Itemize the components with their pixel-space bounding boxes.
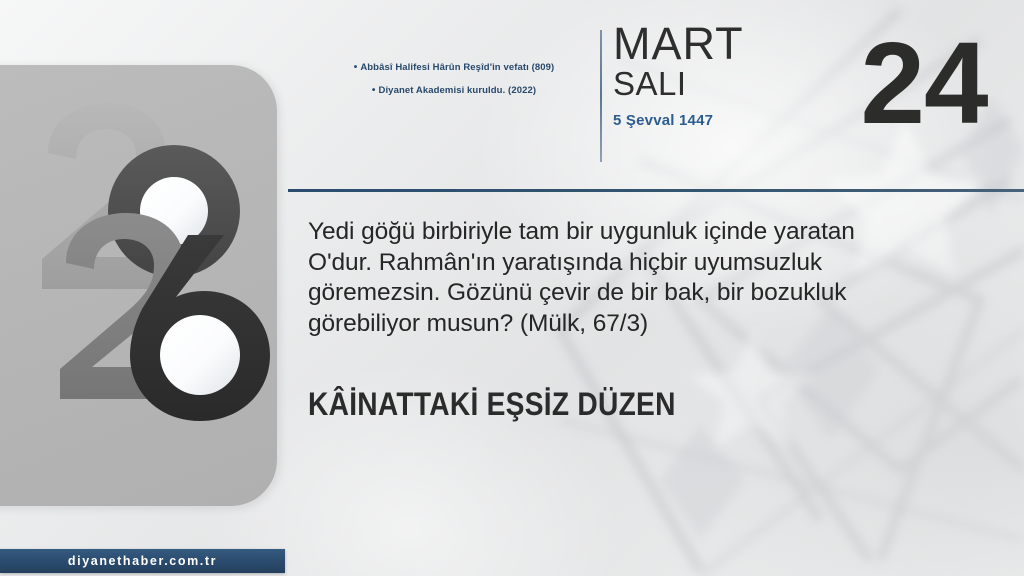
footer-bar: diyanethaber.com.tr bbox=[0, 549, 285, 573]
event-text: Abbâsî Halifesi Hârûn Reşîd'in vefatı (8… bbox=[360, 62, 554, 73]
quote-text: Yedi göğü birbiriyle tam bir uygunluk iç… bbox=[308, 217, 928, 339]
bullet-icon: • bbox=[372, 85, 376, 96]
quote-line: görebiliyor musun? (Mülk, 67/3) bbox=[308, 309, 928, 340]
event-text: Diyanet Akademisi kuruldu. (2022) bbox=[378, 85, 536, 96]
list-item: •Diyanet Akademisi kuruldu. (2022) bbox=[316, 85, 592, 98]
weekday-label: SALI bbox=[613, 66, 843, 102]
bullet-icon: • bbox=[354, 62, 358, 73]
calendar-page: •Abbâsî Halifesi Hârûn Reşîd'in vefatı (… bbox=[0, 0, 1024, 576]
headline-title: KÂİNATTAKİ EŞSİZ DÜZEN bbox=[308, 386, 676, 422]
horizontal-divider bbox=[288, 189, 1024, 192]
vertical-separator bbox=[600, 30, 602, 162]
website-url[interactable]: diyanethaber.com.tr bbox=[0, 549, 285, 573]
quote-line: Yedi göğü birbiriyle tam bir uygunluk iç… bbox=[308, 217, 928, 248]
list-item: •Abbâsî Halifesi Hârûn Reşîd'in vefatı (… bbox=[316, 62, 592, 75]
hijri-date-label: 5 Şevval 1447 bbox=[613, 112, 843, 129]
quote-line: göremezsin. Gözünü çevir de bir bak, bir… bbox=[308, 278, 928, 309]
events-list: •Abbâsî Halifesi Hârûn Reşîd'in vefatı (… bbox=[316, 62, 592, 107]
date-block: MART SALI 5 Şevval 1447 bbox=[613, 22, 843, 129]
day-number: 24 bbox=[849, 8, 999, 158]
quote-line: O'dur. Rahmân'ın yaratışında hiçbir uyum… bbox=[308, 248, 928, 279]
month-label: MART bbox=[613, 22, 843, 66]
year-logo-2026 bbox=[20, 93, 284, 423]
